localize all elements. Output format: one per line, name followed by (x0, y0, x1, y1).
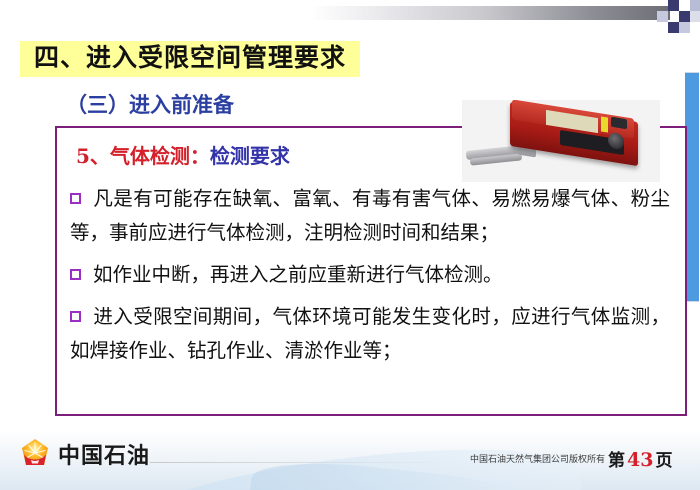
square-bullet-icon (70, 193, 81, 204)
brand-name: 中国石油 (58, 438, 150, 470)
copyright-text: 中国石油天然气集团公司版权所有 (470, 452, 605, 465)
section-heading: 5、气体检测：检测要求 (76, 140, 290, 169)
list-item: 进入受限空间期间，气体环境可能发生变化时，应进行气体监测，如焊接作业、钻孔作业、… (70, 300, 670, 368)
deco-square-4 (657, 11, 668, 22)
detector-yellow-strip (601, 116, 608, 132)
page-title: 四、进入受限空间管理要求 (20, 41, 360, 77)
section-heading-red: 5、气体检测： (76, 144, 210, 168)
page-prefix: 第 (608, 451, 625, 471)
list-item-text: 进入受限空间期间，气体环境可能发生变化时，应进行气体监测，如焊接作业、钻孔作业、… (70, 305, 670, 362)
list-item: 凡是有可能存在缺氧、富氧、有毒有害气体、易燃易爆气体、粉尘等，事前应进行气体检测… (70, 182, 670, 250)
deco-square-7 (668, 22, 679, 33)
bullet-list: 凡是有可能存在缺氧、富氧、有毒有害气体、易燃易爆气体、粉尘等，事前应进行气体检测… (70, 182, 670, 376)
gas-detector-photo (462, 100, 660, 182)
brand-logo: 中国石油 (18, 437, 150, 471)
square-bullet-icon (70, 269, 81, 280)
section-heading-blue: 检测要求 (210, 144, 290, 168)
page-number-value: 43 (625, 449, 655, 471)
footer-divider (150, 462, 450, 463)
page-subtitle: （三）进入前准备 (66, 89, 234, 119)
list-item-text: 凡是有可能存在缺氧、富氧、有毒有害气体、易燃易爆气体、粉尘等，事前应进行气体检测… (70, 187, 670, 244)
page-suffix: 页 (655, 451, 672, 471)
deco-square-2 (679, 0, 690, 11)
deco-square-1 (668, 0, 679, 11)
accent-blue-bar (685, 72, 699, 302)
deco-square-8 (679, 22, 690, 33)
deco-square-3 (690, 0, 700, 11)
deco-square-6 (690, 11, 700, 22)
top-gradient-bar (310, 6, 670, 20)
list-item-text: 如作业中断，再进入之前应重新进行气体检测。 (93, 263, 503, 286)
list-item: 如作业中断，再进入之前应重新进行气体检测。 (70, 258, 670, 292)
page-number: 第43页 (608, 446, 672, 471)
petrochina-logo-icon (18, 437, 52, 471)
square-bullet-icon (70, 311, 81, 322)
deco-square-5 (679, 11, 690, 22)
slide-canvas: 四、进入受限空间管理要求 （三）进入前准备 5、气体检测：检测要求 凡是有可能存… (0, 0, 700, 490)
